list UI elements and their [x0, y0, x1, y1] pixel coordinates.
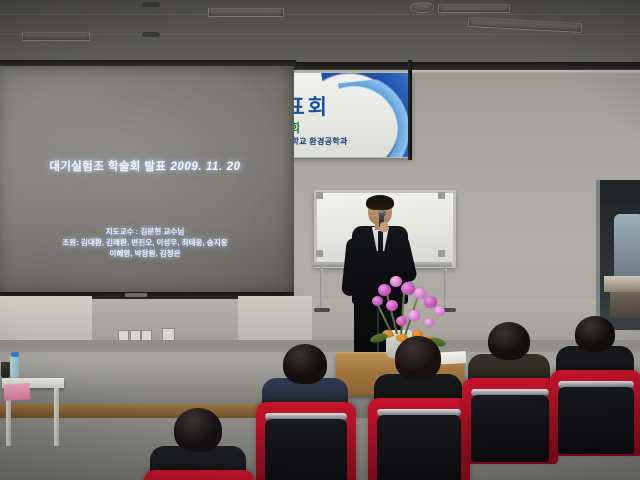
audience-chair[interactable] — [368, 398, 470, 480]
orchid-bloom — [401, 282, 415, 295]
chair-back-panel — [377, 415, 461, 480]
side-table-leg — [54, 388, 59, 446]
ceiling-tile-seam — [0, 34, 640, 35]
bottle-cap — [11, 352, 19, 357]
ceiling-vent — [142, 32, 160, 37]
slide-members-line-2: 이혜영, 박장원, 김정은 — [0, 248, 294, 259]
audience-chair[interactable] — [144, 470, 254, 480]
audience-chair[interactable] — [256, 402, 356, 480]
presenter-tie — [378, 231, 383, 252]
orchid-bloom — [390, 276, 402, 287]
presenter-hand — [380, 222, 388, 232]
orchid-bloom — [396, 316, 407, 326]
banner-pole-right — [408, 60, 412, 160]
chair-back-panel — [265, 419, 347, 480]
orchid-bloom — [378, 284, 391, 296]
ceiling-light-fixture — [22, 32, 90, 41]
whiteboard-corner — [438, 192, 445, 199]
slide-title: 대기실험조 학술회 발표2009. 11. 20 — [0, 158, 294, 174]
slide-title-text: 대기실험조 학술회 발표 — [49, 161, 166, 173]
attendee-head — [174, 408, 222, 452]
ceiling-light-fixture — [438, 4, 510, 13]
slide-members-line-1: 조원: 김대환, 김래환, 변진오, 이성우, 최태웅, 송지웅 — [0, 237, 294, 248]
orchid-bloom — [414, 288, 426, 299]
attendee-head — [575, 316, 615, 352]
orchid-bloom — [372, 296, 383, 306]
whiteboard-corner — [316, 250, 323, 257]
projection-screen: 대기실험조 학술회 발표2009. 11. 20 지도교수 : 김문현 교수님 … — [0, 66, 294, 296]
whiteboard-corner — [438, 250, 445, 257]
right-doorway — [596, 180, 640, 330]
ceiling-downlight — [410, 2, 434, 13]
lecture-hall-photo: 발표회 발표회 : 대구대학교 환경공학과 대기실험조 학술회 발표2009. … — [0, 0, 640, 480]
whiteboard-caster — [314, 308, 330, 312]
attendee-head — [283, 344, 327, 384]
screen-pull-handle[interactable] — [125, 293, 147, 297]
orchid-bloom — [434, 306, 445, 316]
slide-body: 지도교수 : 김문현 교수님 조원: 김대환, 김래환, 변진오, 이성우, 최… — [0, 226, 294, 259]
orchid-bloom — [408, 310, 420, 321]
audience-chair[interactable] — [550, 370, 640, 456]
water-bottle — [10, 356, 19, 378]
doorway-person — [614, 214, 640, 276]
chair-back-panel — [471, 395, 550, 462]
dark-cup — [1, 362, 10, 378]
whiteboard-leg — [444, 266, 447, 310]
attendee-head — [395, 336, 441, 380]
attendee-head — [488, 322, 530, 360]
ceiling-tile-seam — [0, 14, 640, 15]
chair-back-panel — [558, 387, 633, 454]
slide-advisor-line: 지도교수 : 김문현 교수님 — [0, 226, 294, 237]
doorway-podium-body — [610, 292, 640, 318]
whiteboard-corner — [316, 192, 323, 199]
doorway-podium-top — [604, 276, 640, 292]
slide-title-date: 2009. 11. 20 — [166, 161, 240, 173]
orchid-bloom — [424, 318, 434, 327]
whiteboard-leg — [320, 266, 323, 310]
audience-chair[interactable] — [462, 378, 558, 464]
pink-paper — [3, 383, 30, 401]
ceiling-light-fixture — [208, 8, 284, 17]
orchid-bloom — [386, 300, 398, 311]
presenter-hair — [366, 195, 394, 210]
ceiling-vent — [142, 2, 160, 7]
banner-swoosh-graphic — [338, 75, 412, 158]
